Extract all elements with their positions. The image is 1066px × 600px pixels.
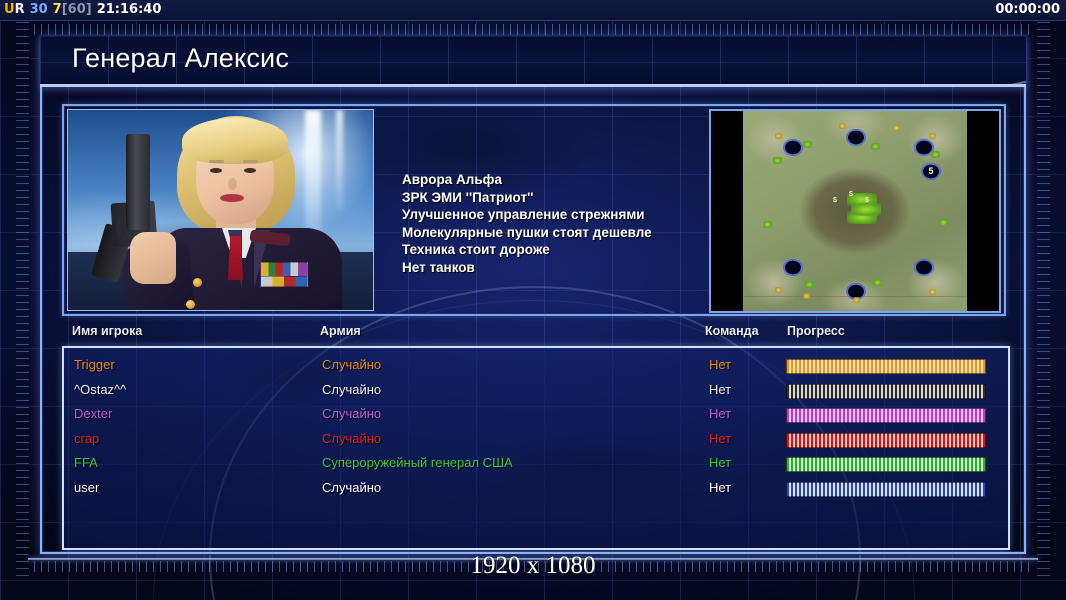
general-description: Аврора АльфаЗРК ЭМИ ''Патриот''Улучшенно… [384, 109, 754, 309]
status-label-u: U [4, 2, 15, 17]
map-start-position [846, 129, 866, 146]
player-progress-bar [786, 384, 986, 399]
map-preview: 5$$$ [709, 109, 1001, 313]
status-players-max: [60] [62, 2, 92, 17]
status-bar-left: UR307[60]21:16:40 [4, 0, 161, 20]
player-team[interactable]: Нет [709, 480, 731, 495]
map-oil-derrick [775, 133, 782, 139]
header-player-name: Имя игрока [72, 324, 142, 338]
portrait-lips [220, 194, 244, 202]
portrait-light-beam-secondary [336, 110, 343, 210]
table-row[interactable]: FFAСупероружейный генерал СШАНет [64, 452, 1008, 477]
status-label-r: R [15, 2, 25, 17]
map-supply-pile [931, 151, 940, 158]
general-ability-line: ЗРК ЭМИ ''Патриот'' [402, 189, 652, 207]
player-name: Trigger [74, 357, 115, 372]
general-ability-line: Нет танков [402, 259, 652, 277]
map-start-position: 5 [921, 163, 941, 180]
game-screen: UR307[60]21:16:40 00:00:00 Генерал Алекс… [0, 0, 1066, 600]
map-supply-count: $ [849, 191, 853, 198]
ruler-left [16, 22, 29, 578]
map-oil-derrick [929, 133, 936, 139]
player-army[interactable]: Случайно [322, 431, 381, 446]
map-supply-pile [871, 143, 880, 150]
player-army[interactable]: Супероружейный генерал США [322, 455, 513, 470]
map-start-position [914, 259, 934, 276]
ruler-right [1037, 22, 1050, 578]
portrait-hair-front [182, 118, 288, 164]
map-supply-pile [763, 221, 772, 228]
player-team[interactable]: Нет [709, 382, 731, 397]
map-oil-derrick [929, 289, 936, 295]
player-team[interactable]: Нет [709, 357, 731, 372]
general-portrait [67, 109, 374, 311]
table-row[interactable]: crapСлучайноНет [64, 428, 1008, 453]
map-supply-pile [773, 157, 782, 164]
portrait-eyebrow-left [209, 160, 224, 163]
table-row[interactable]: DexterСлучайноНет [64, 403, 1008, 428]
portrait-nose [228, 178, 237, 190]
player-army[interactable]: Случайно [322, 382, 381, 397]
general-ability-list: Аврора АльфаЗРК ЭМИ ''Патриот''Улучшенно… [402, 171, 652, 277]
status-players: 7 [53, 2, 62, 17]
player-name: FFA [74, 455, 98, 470]
status-fps: 30 [30, 2, 48, 17]
map-start-position [783, 259, 803, 276]
player-army[interactable]: Случайно [322, 357, 381, 372]
map-supply-pile [805, 281, 814, 288]
portrait-eye-left [210, 168, 222, 173]
player-team[interactable]: Нет [709, 455, 731, 470]
map-oil-derrick [775, 287, 782, 293]
map-oil-derrick [839, 123, 846, 129]
header-team: Команда [705, 324, 759, 338]
map-supply-pile [851, 203, 881, 216]
game-setup-window: Генерал Алексис [40, 36, 1026, 554]
map-oil-derrick [893, 125, 900, 131]
general-ability-line: Техника стоит дороже [402, 241, 652, 259]
status-timer: 00:00:00 [995, 0, 1060, 20]
general-ability-line: Молекулярные пушки стоят дешевле [402, 224, 652, 242]
player-team[interactable]: Нет [709, 431, 731, 446]
map-preview-terrain: 5$$$ [743, 111, 967, 311]
portrait-eyebrow-right [243, 160, 258, 163]
portrait-light-beam [305, 110, 321, 238]
player-name: Dexter [74, 406, 112, 421]
map-supply-pile [803, 141, 812, 148]
header-army: Армия [320, 324, 361, 338]
player-name: ^Ostaz^^ [74, 382, 126, 397]
player-name: user [74, 480, 99, 495]
map-supply-count: $ [865, 197, 869, 204]
player-table-header: Имя игрока Армия Команда Прогресс [62, 324, 1006, 346]
player-progress-bar [786, 482, 986, 497]
portrait-hand [130, 232, 176, 284]
page-title: Генерал Алексис [72, 43, 289, 74]
table-row[interactable]: userСлучайноНет [64, 477, 1008, 502]
portrait-medal-ribbons-lower [260, 276, 308, 287]
ruler-top [34, 24, 1032, 35]
player-name: crap [74, 431, 99, 446]
portrait-uniform-button-2 [186, 300, 195, 309]
player-progress-bar [786, 457, 986, 472]
portrait-eye-right [244, 168, 256, 173]
general-ability-line: Аврора Альфа [402, 171, 652, 189]
player-army[interactable]: Случайно [322, 480, 381, 495]
map-start-position [783, 139, 803, 156]
player-progress-bar [786, 433, 986, 448]
player-team[interactable]: Нет [709, 406, 731, 421]
pistol-slide [126, 134, 150, 230]
resolution-label: 1920 x 1080 [0, 552, 1066, 580]
map-supply-pile [939, 219, 948, 226]
map-oil-derrick [853, 297, 860, 303]
map-supply-pile [873, 279, 882, 286]
general-ability-line: Улучшенное управление стрежнями [402, 206, 652, 224]
table-row[interactable]: ^Ostaz^^СлучайноНет [64, 379, 1008, 404]
player-progress-bar [786, 359, 986, 374]
window-titlebar: Генерал Алексис [40, 36, 1026, 87]
status-bar: UR307[60]21:16:40 00:00:00 [0, 0, 1066, 21]
player-army[interactable]: Случайно [322, 406, 381, 421]
map-supply-count: $ [833, 197, 837, 204]
portrait-uniform-button-1 [193, 278, 202, 287]
player-list[interactable]: TriggerСлучайноНет^Ostaz^^СлучайноНетDex… [62, 346, 1010, 550]
map-oil-derrick [803, 293, 810, 299]
general-info-panel: Аврора АльфаЗРК ЭМИ ''Патриот''Улучшенно… [62, 104, 1006, 316]
portrait-necktie [228, 236, 243, 280]
table-row[interactable]: TriggerСлучайноНет [64, 354, 1008, 379]
status-clock: 21:16:40 [97, 2, 162, 17]
player-progress-bar [786, 408, 986, 423]
header-progress: Прогресс [787, 324, 845, 338]
